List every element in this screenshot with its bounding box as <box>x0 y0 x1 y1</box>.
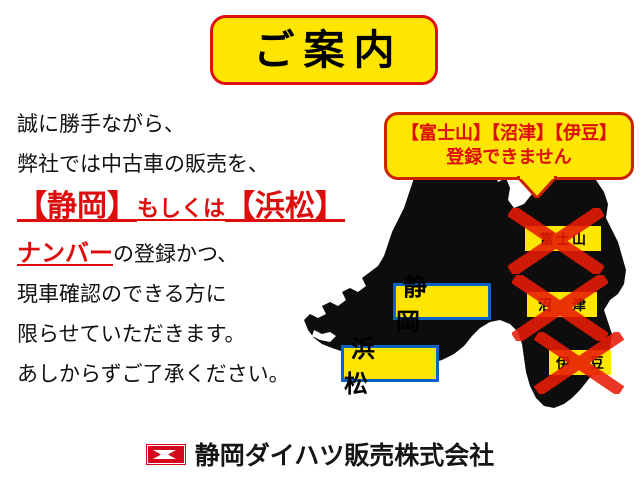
map-label-izu: 伊 豆 <box>549 350 611 375</box>
footer-logo-bar: 静岡ダイハツ販売株式会社 <box>0 436 640 472</box>
notice-kana-suffix: の登録かつ、 <box>113 242 238 266</box>
notice-line-5: あしからずご了承ください。 <box>17 354 337 394</box>
emphasis-shizuoka: 【静岡】 <box>17 189 137 224</box>
daihatsu-logo-icon <box>146 444 186 465</box>
emphasis-conjunction: もしくは <box>137 197 225 222</box>
company-name: 静岡ダイハツ販売株式会社 <box>195 436 495 472</box>
notice-line-2: 弊社では中古車の販売を、 <box>17 144 337 184</box>
map-label-numazu: 沼 津 <box>527 292 597 317</box>
callout-bubble: 【富士山】【沼津】【伊豆】 登録できません <box>384 112 634 180</box>
callout-line-2: 登録できません <box>446 146 571 170</box>
page-title: ご案内 <box>245 30 404 71</box>
callout-line-1: 【富士山】【沼津】【伊豆】 <box>401 122 617 146</box>
map-label-hamamatsu: 浜 松 <box>341 345 439 382</box>
notice-text-block: 誠に勝手ながら、 弊社では中古車の販売を、 【静岡】もしくは【浜松】 ナンバーの… <box>17 104 337 394</box>
notice-emphasis-line: 【静岡】もしくは【浜松】 <box>17 184 337 233</box>
notice-line-3: 現車確認のできる方に <box>17 274 337 314</box>
notice-line-1: 誠に勝手ながら、 <box>17 104 337 144</box>
map-label-fujisan: 富士山 <box>525 226 601 251</box>
page-title-banner: ご案内 <box>210 15 438 85</box>
map-label-shizuoka: 静 岡 <box>393 283 491 320</box>
callout-tail-icon <box>517 176 557 198</box>
emphasis-number-plate: ナンバー <box>17 239 113 267</box>
notice-kana-line: ナンバーの登録かつ、 <box>17 233 337 274</box>
notice-line-4: 限らせていただきます。 <box>17 314 337 354</box>
